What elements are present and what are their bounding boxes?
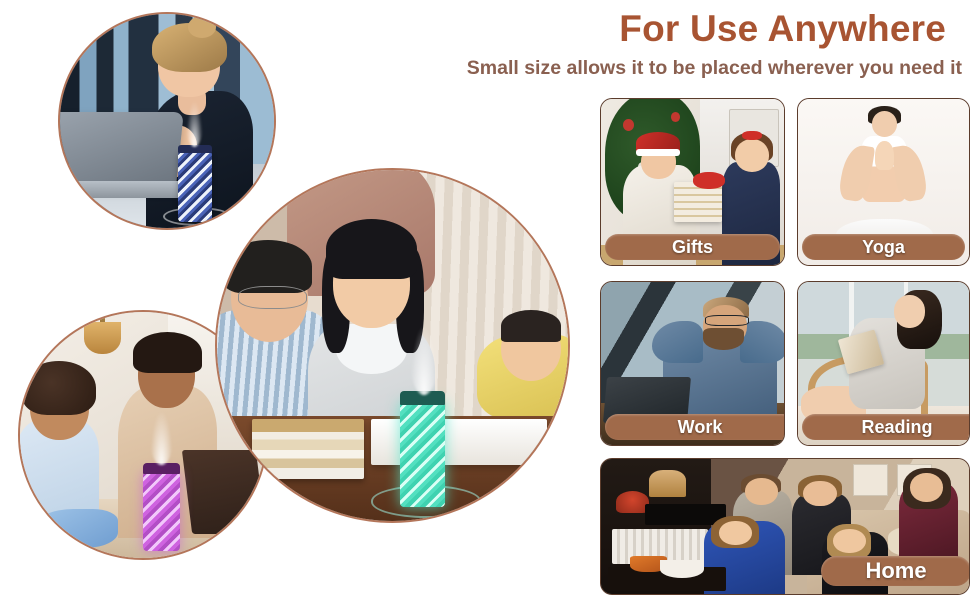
thumbnail-label-work: Work (605, 414, 785, 440)
popcorn-bowl (660, 560, 704, 578)
head (872, 111, 898, 138)
woman-hair-bun (188, 16, 216, 37)
pendant-lamp (84, 322, 121, 354)
circle-image-family-studying (215, 168, 570, 523)
thumbnail-work[interactable]: Work (600, 281, 785, 446)
humidifier-device-purple (143, 472, 180, 551)
wall-art (853, 464, 888, 496)
ornament (623, 119, 634, 131)
thumbnail-label-yoga: Yoga (802, 234, 965, 260)
thumbnail-label-home: Home (821, 556, 970, 586)
mist-plume (150, 410, 172, 464)
thumbnail-label-reading: Reading (802, 414, 970, 440)
daughter-head (735, 139, 770, 172)
mist-plume (410, 324, 438, 394)
woman-head (894, 295, 925, 328)
eyeglasses (705, 315, 749, 327)
santa-hat-fur (636, 149, 680, 156)
humidifier-device-green (400, 402, 446, 507)
mother-hair (133, 332, 202, 374)
child-hair (22, 361, 96, 415)
blue-cloth (35, 509, 119, 548)
gift-ribbon (693, 172, 726, 189)
hair-bow (742, 131, 762, 141)
laptop-base (60, 181, 195, 198)
open-book (371, 419, 547, 465)
girl-head-left (719, 521, 752, 545)
thumbnail-reading[interactable]: Reading (797, 281, 970, 446)
scene-family-studying (217, 170, 568, 521)
page-title: For Use Anywhere (619, 8, 946, 51)
humidifier-device-blue (178, 151, 212, 222)
book-stack (252, 419, 364, 479)
father-hair (224, 240, 312, 293)
girl-bangs (326, 219, 417, 279)
thumbnail-home[interactable]: Home (600, 458, 970, 595)
thumbnail-gifts[interactable]: Gifts (600, 98, 785, 266)
prayer-hands (875, 141, 894, 171)
eyeglasses (238, 286, 307, 309)
ornament (671, 112, 680, 122)
page-subtitle: Small size allows it to be placed wherev… (467, 57, 962, 80)
table-lamp (649, 470, 686, 497)
girl-head-right (833, 529, 866, 553)
boy-head (803, 481, 836, 507)
humidifier-cap (143, 463, 180, 474)
left-arm (652, 321, 703, 363)
boy-hair (501, 310, 561, 342)
flower-vase (616, 491, 649, 513)
promo-banner: For Use Anywhere Small size allows it to… (0, 0, 970, 600)
laptop-screen (60, 112, 184, 185)
man-head (745, 478, 778, 505)
thumbnail-label-gifts: Gifts (605, 234, 780, 260)
thumbnail-yoga[interactable]: Yoga (797, 98, 970, 266)
woman-head (910, 473, 943, 503)
